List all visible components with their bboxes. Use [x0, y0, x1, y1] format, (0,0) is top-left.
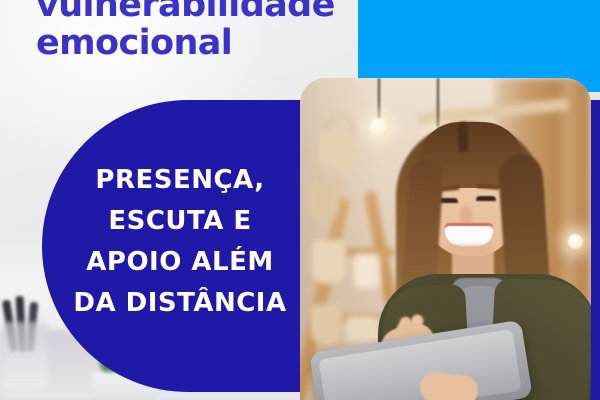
slogan-line-2: ESCUTA E — [60, 201, 300, 242]
slogan-line-3: APOIO ALÉM — [60, 242, 300, 283]
poster-canvas: vulnerabilidade emocional PRESENÇA, ESCU… — [0, 0, 600, 400]
pendant-light-cord — [378, 78, 380, 120]
hanging-bag — [312, 240, 346, 284]
slogan: PRESENÇA, ESCUTA E APOIO ALÉM DA DISTÂNC… — [60, 160, 300, 324]
headline: vulnerabilidade emocional — [36, 0, 366, 62]
woman-with-tablet-photo — [300, 78, 591, 400]
hanging-bag — [310, 304, 342, 344]
background-pen-cup — [2, 322, 48, 390]
slogan-line-4: DA DISTÂNCIA — [60, 283, 300, 324]
woman-smile — [445, 226, 493, 246]
pendant-light-bulb — [370, 118, 388, 136]
shelf-item — [346, 316, 380, 342]
pendant-light-bulb — [568, 234, 583, 249]
woman-nose — [460, 206, 472, 224]
headline-line-2: emocional — [36, 24, 366, 62]
headline-line-1: vulnerabilidade — [36, 0, 366, 24]
pendant-light-cord — [437, 78, 439, 128]
shelf-item — [354, 254, 380, 288]
woman-eye — [476, 196, 496, 201]
slogan-line-1: PRESENÇA, — [60, 160, 300, 201]
woman-hair-part — [458, 122, 468, 152]
hanging-bag — [308, 182, 338, 222]
